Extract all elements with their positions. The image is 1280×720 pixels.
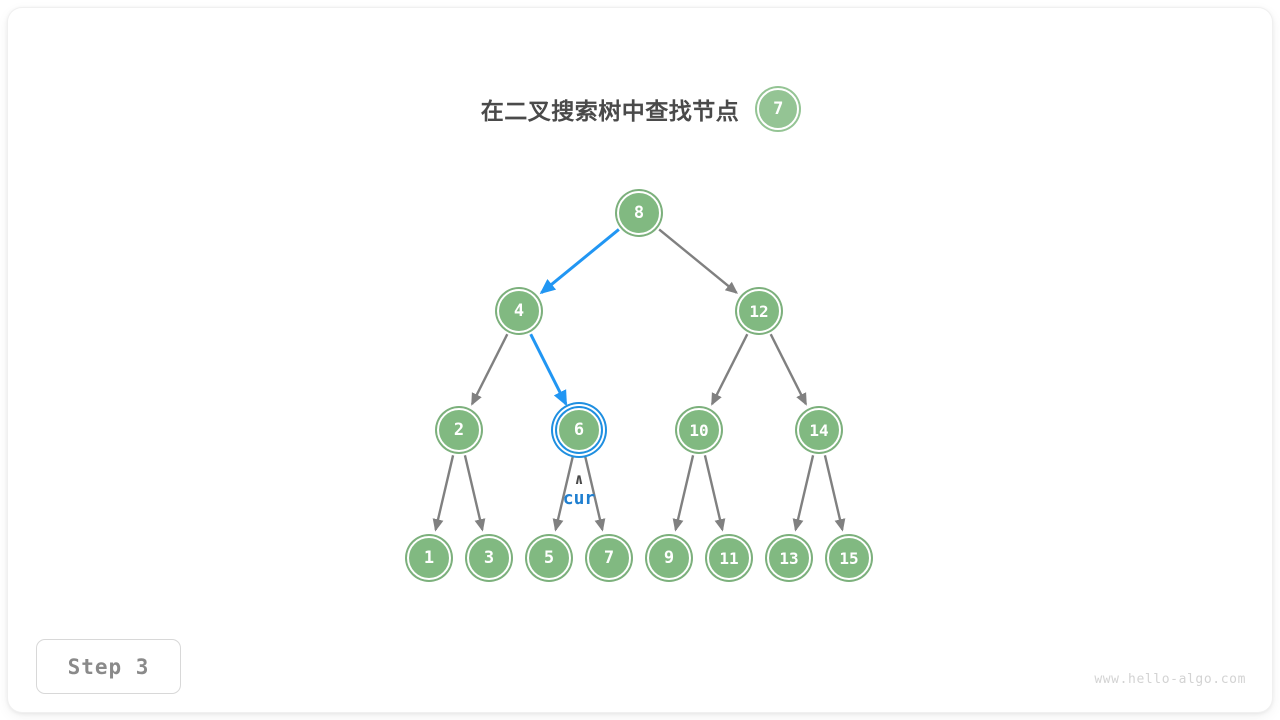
tree-edge [825,455,842,529]
target-value-badge: 7 [757,88,799,130]
tree-edge [531,334,566,404]
tree-node-13: 13 [767,536,811,580]
tree-node-12: 12 [737,289,781,333]
tree-node-15: 15 [827,536,871,580]
tree-edge [472,334,507,404]
cursor-caret-icon: ∧ [549,470,609,488]
tree-node-4: 4 [497,289,541,333]
tree-edge [465,455,482,529]
tree-edge [541,229,618,292]
tree-node-2: 2 [437,408,481,452]
diagram-canvas: 在二叉搜索树中查找节点 7 841226101413579111315 ∧ cu… [0,0,1280,720]
tree-edge [659,229,736,292]
tree-node-14: 14 [797,408,841,452]
cursor-label: cur [539,488,619,509]
tree-node-9: 9 [647,536,691,580]
tree-node-3: 3 [467,536,511,580]
site-watermark: www.hello-algo.com [1094,672,1246,687]
edge-group [436,229,843,529]
tree-edge [771,334,806,404]
step-badge: Step 3 [36,639,181,694]
tree-node-11: 11 [707,536,751,580]
diagram-title-row: 在二叉搜索树中查找节点 7 [0,88,1280,130]
tree-node-10: 10 [677,408,721,452]
tree-node-1: 1 [407,536,451,580]
tree-node-7: 7 [587,536,631,580]
tree-edge [712,334,747,404]
tree-node-6: 6 [557,408,601,452]
tree-edge [676,455,693,529]
tree-node-8: 8 [617,191,661,235]
page-title: 在二叉搜索树中查找节点 [481,92,740,126]
tree-node-5: 5 [527,536,571,580]
tree-edge [705,455,722,529]
tree-edge [796,455,813,529]
tree-edge [436,455,453,529]
